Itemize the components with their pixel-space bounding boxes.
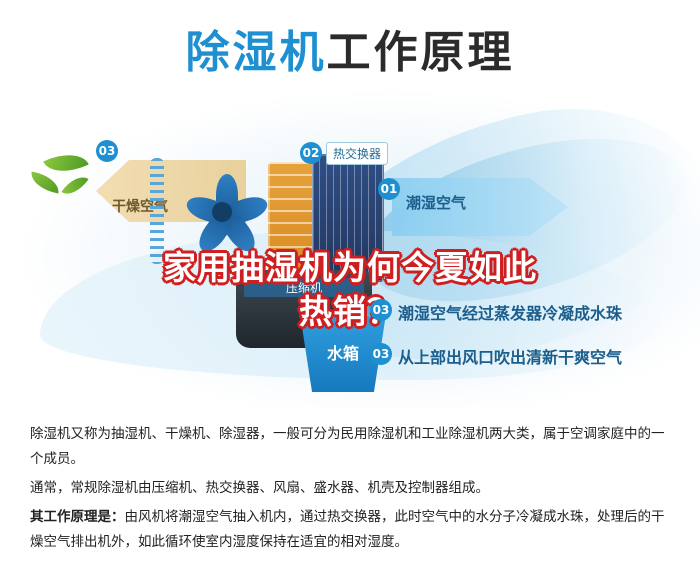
badge-step-01: 01 bbox=[378, 178, 400, 200]
heat-exchanger-label: 热交换器 bbox=[326, 142, 388, 165]
paragraph-1: 除湿机又称为抽湿机、干燥机、除湿器，一般可分为民用除湿机和工业除湿机两大类，属于… bbox=[30, 422, 670, 472]
infographic-title: 除湿机工作原理 bbox=[0, 24, 700, 82]
infographic-panel: 除湿机工作原理 干燥空气 03 bbox=[0, 0, 700, 410]
badge-step-03: 03 bbox=[96, 140, 118, 162]
paragraph-3-text: 由风机将潮湿空气抽入机内，通过热交换器，此时空气中的水分子冷凝成水珠，处理后的干… bbox=[30, 509, 665, 550]
page-root: 除湿机工作原理 干燥空气 03 bbox=[0, 0, 700, 566]
leaf-icon bbox=[29, 172, 61, 194]
badge-step-02: 02 bbox=[300, 142, 322, 164]
step-badge-2: 03 bbox=[370, 343, 392, 365]
title-blue-text: 除湿机 bbox=[186, 27, 327, 78]
promo-headline-line1: 家用抽湿机为何今夏如此 bbox=[0, 246, 700, 290]
paragraph-3-lead: 其工作原理是： bbox=[30, 509, 125, 525]
section-divider bbox=[0, 408, 700, 409]
moist-air-label: 潮湿空气 bbox=[406, 192, 466, 213]
step-text-2: 从上部出风口吹出清新干爽空气 bbox=[398, 344, 622, 368]
paragraph-2: 通常，常规除湿机由压缩机、热交换器、风扇、盛水器、机壳及控制器组成。 bbox=[30, 476, 670, 501]
step-text-1: 潮湿空气经过蒸发器冷凝成水珠 bbox=[398, 300, 622, 324]
leaf-icon bbox=[61, 171, 88, 201]
article-body: 除湿机又称为抽湿机、干燥机、除湿器，一般可分为民用除湿机和工业除湿机两大类，属于… bbox=[0, 414, 700, 566]
title-dark-text: 工作原理 bbox=[327, 27, 515, 78]
step-badge-1: 03 bbox=[370, 299, 392, 321]
paragraph-3: 其工作原理是：由风机将潮湿空气抽入机内，通过热交换器，此时空气中的水分子冷凝成水… bbox=[30, 505, 670, 555]
fan-icon bbox=[176, 166, 268, 258]
leaf-icon bbox=[43, 145, 89, 182]
